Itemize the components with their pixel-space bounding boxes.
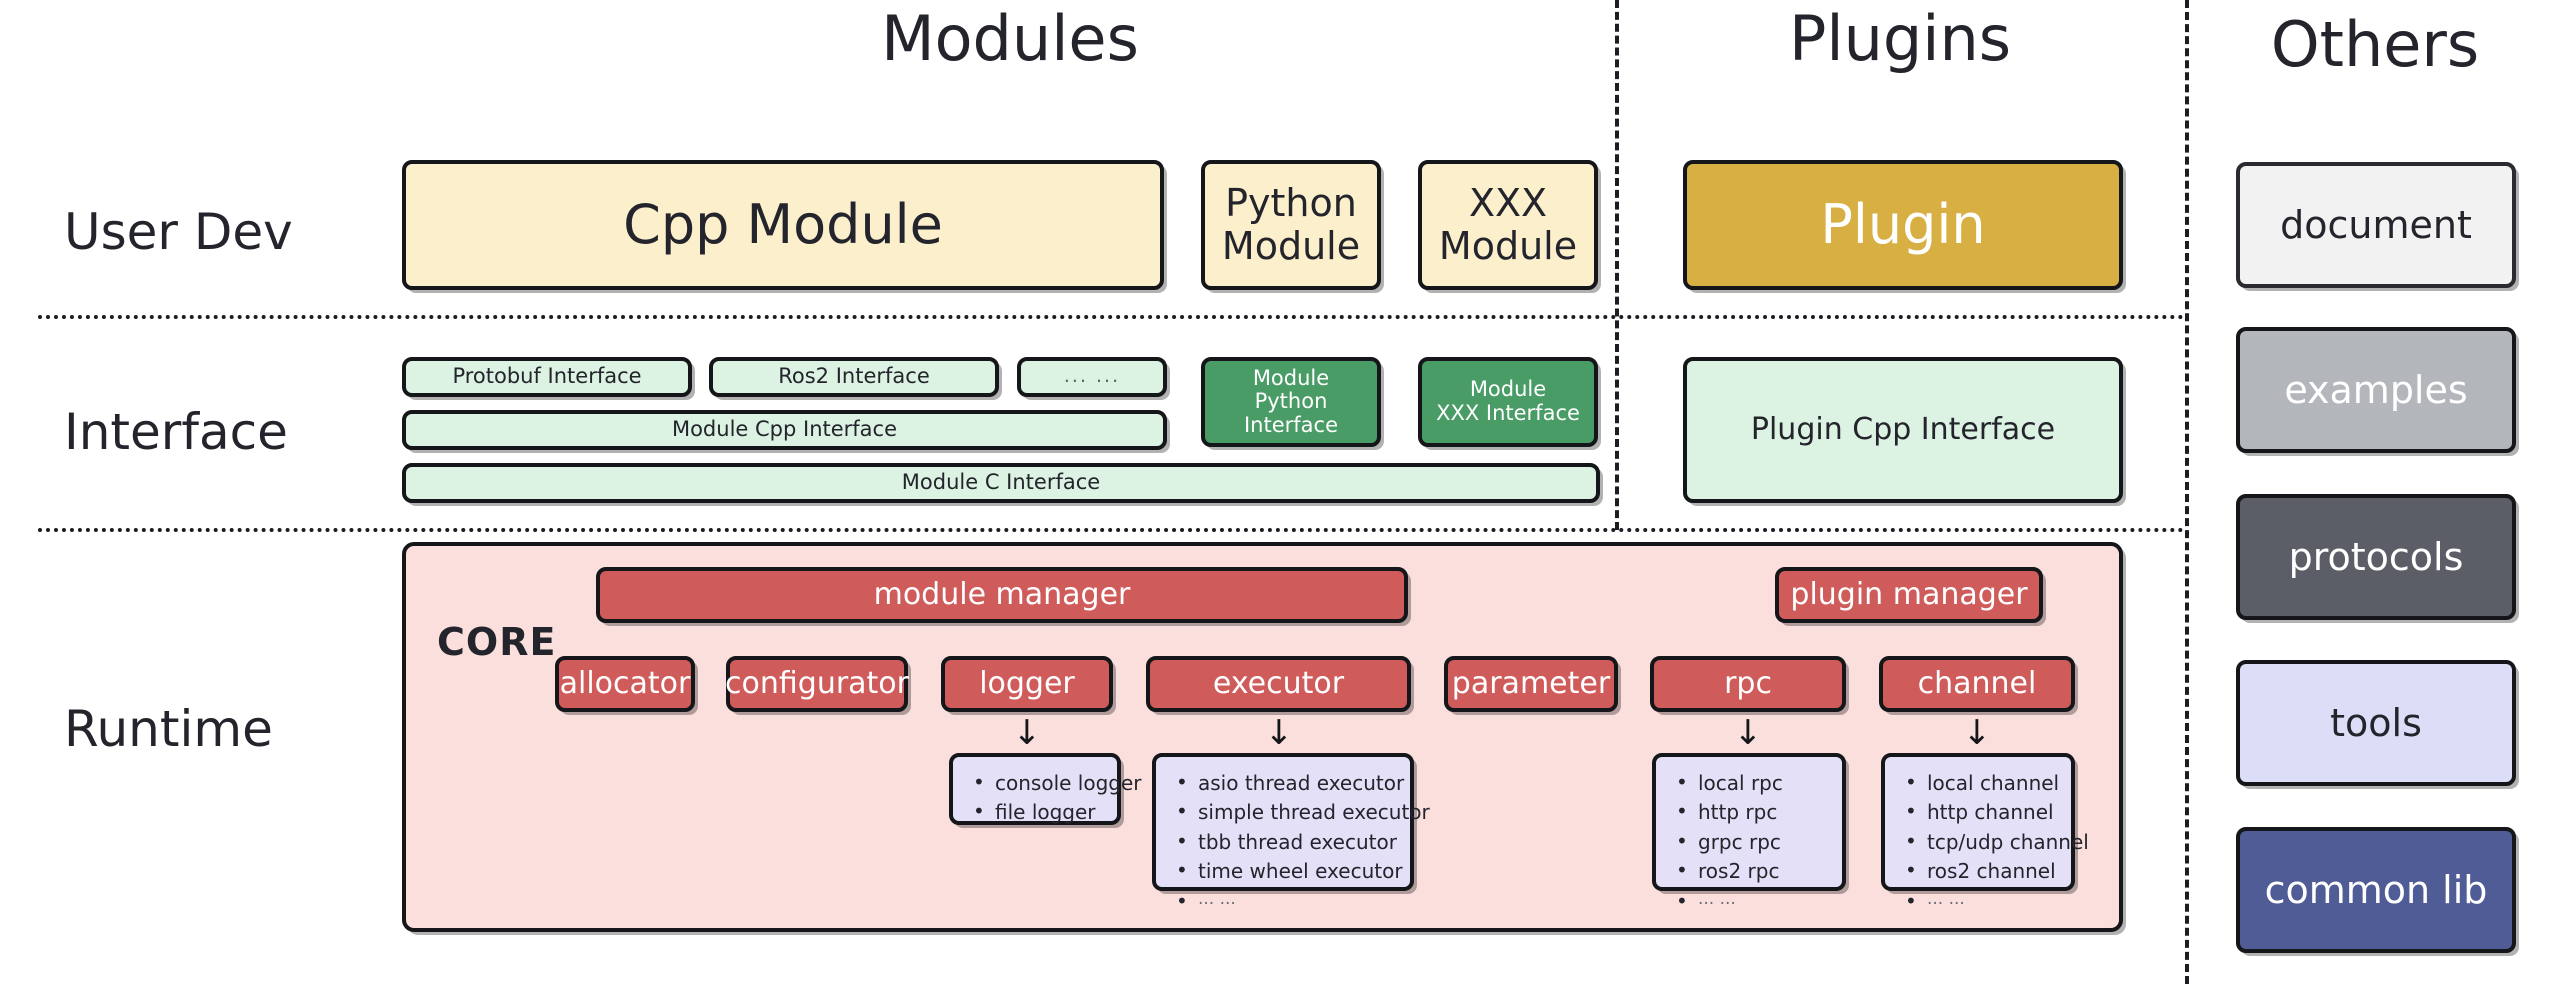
list-item: file logger [969,798,1103,827]
node-plugin-manager-label: plugin manager [1790,578,2027,612]
node-logger[interactable]: logger [941,656,1113,712]
node-xxx-module-label-line1: XXX [1469,182,1547,225]
vertical-separator-modules-plugins [1615,0,1619,530]
node-module-xxx-interface[interactable]: Module XXX Interface [1418,357,1598,447]
list-item: local channel [1901,769,2057,798]
column-header-others: Others [2205,14,2545,76]
node-module-xxx-interface-label-line2: XXX Interface [1436,402,1580,426]
node-module-manager[interactable]: module manager [596,567,1408,623]
node-others-common-lib[interactable]: common lib [2236,827,2516,953]
node-configurator[interactable]: configurator [726,656,908,712]
row-label-interface: Interface [64,403,288,461]
node-python-module-label-line2: Module [1222,225,1360,268]
node-more-interface[interactable]: ... ... [1017,357,1167,397]
node-plugin-cpp-interface[interactable]: Plugin Cpp Interface [1683,357,2123,503]
arrow-channel-to-list-icon: ↓ [1957,716,1997,750]
node-others-common-lib-label: common lib [2265,869,2488,912]
node-python-module-label-line1: Python [1225,182,1357,225]
node-configurator-label: configurator [725,667,909,701]
node-module-python-interface-label-line2: Python Interface [1205,390,1377,437]
rpc-items-list: local rpc http rpc grpc rpc ros2 rpc ...… [1672,769,1828,912]
node-module-cpp-interface[interactable]: Module Cpp Interface [402,410,1167,450]
node-cpp-module-label: Cpp Module [623,195,943,255]
node-channel[interactable]: channel [1879,656,2075,712]
column-header-modules: Modules [700,8,1320,70]
list-item: ... ... [1672,887,1828,912]
arrow-logger-to-list-icon: ↓ [1007,716,1047,750]
list-item: tbb thread executor [1172,828,1396,857]
node-ros2-interface[interactable]: Ros2 Interface [709,357,999,397]
node-rpc-label: rpc [1724,667,1772,701]
vertical-separator-plugins-others [2185,0,2189,984]
node-module-manager-label: module manager [874,578,1131,612]
node-module-cpp-interface-label: Module Cpp Interface [672,418,897,442]
node-protobuf-interface[interactable]: Protobuf Interface [402,357,692,397]
node-more-interface-label: ... ... [1064,366,1120,387]
list-item: ros2 rpc [1672,857,1828,886]
node-xxx-module[interactable]: XXX Module [1418,160,1598,290]
node-rpc[interactable]: rpc [1650,656,1846,712]
node-protobuf-interface-label: Protobuf Interface [452,365,641,389]
list-item: tcp/udp channel [1901,828,2057,857]
node-executor-label: executor [1213,667,1344,701]
node-plugin-label: Plugin [1820,195,1985,255]
row-label-runtime: Runtime [64,700,273,758]
list-logger-implementations: console logger file logger [949,753,1121,825]
list-rpc-implementations: local rpc http rpc grpc rpc ros2 rpc ...… [1652,753,1846,891]
list-item: http rpc [1672,798,1828,827]
logger-items-list: console logger file logger [969,769,1103,828]
executor-items-list: asio thread executor simple thread execu… [1172,769,1396,912]
node-others-protocols-label: protocols [2289,536,2464,579]
node-others-examples[interactable]: examples [2236,327,2516,453]
list-item: ... ... [1172,887,1396,912]
channel-items-list: local channel http channel tcp/udp chann… [1901,769,2057,912]
node-others-examples-label: examples [2284,369,2467,412]
list-channel-implementations: local channel http channel tcp/udp chann… [1881,753,2075,891]
list-executor-implementations: asio thread executor simple thread execu… [1152,753,1414,891]
node-plugin-cpp-interface-label: Plugin Cpp Interface [1751,413,2055,447]
node-logger-label: logger [979,667,1075,701]
horizontal-separator-userdev-interface [38,315,2185,319]
row-label-user-dev: User Dev [64,203,293,261]
node-parameter-label: parameter [1452,667,1610,701]
node-others-tools-label: tools [2330,702,2422,745]
list-item: asio thread executor [1172,769,1396,798]
node-module-python-interface[interactable]: Module Python Interface [1201,357,1381,447]
node-module-xxx-interface-label-line1: Module [1470,378,1546,402]
node-module-python-interface-label-line1: Module [1253,367,1329,391]
node-others-document-label: document [2280,204,2472,247]
node-module-c-interface-label: Module C Interface [902,471,1100,495]
arrow-executor-to-list-icon: ↓ [1259,716,1299,750]
node-module-c-interface[interactable]: Module C Interface [402,463,1600,503]
node-parameter[interactable]: parameter [1444,656,1618,712]
list-item: http channel [1901,798,2057,827]
node-others-tools[interactable]: tools [2236,660,2516,786]
node-allocator[interactable]: allocator [555,656,695,712]
list-item: ... ... [1901,887,2057,912]
node-cpp-module[interactable]: Cpp Module [402,160,1164,290]
list-item: console logger [969,769,1103,798]
horizontal-separator-interface-runtime [38,528,2185,532]
node-channel-label: channel [1918,667,2037,701]
column-header-plugins: Plugins [1640,8,2160,70]
list-item: simple thread executor [1172,798,1396,827]
node-xxx-module-label-line2: Module [1439,225,1577,268]
architecture-diagram: Modules Plugins Others User Dev Interfac… [0,0,2560,984]
node-others-document[interactable]: document [2236,162,2516,288]
list-item: ros2 channel [1901,857,2057,886]
node-executor[interactable]: executor [1146,656,1411,712]
core-label: CORE [437,620,556,664]
list-item: grpc rpc [1672,828,1828,857]
node-others-protocols[interactable]: protocols [2236,494,2516,620]
list-item: time wheel executor [1172,857,1396,886]
node-ros2-interface-label: Ros2 Interface [778,365,930,389]
node-plugin[interactable]: Plugin [1683,160,2123,290]
node-plugin-manager[interactable]: plugin manager [1775,567,2043,623]
node-python-module[interactable]: Python Module [1201,160,1381,290]
node-allocator-label: allocator [560,667,691,701]
arrow-rpc-to-list-icon: ↓ [1728,716,1768,750]
list-item: local rpc [1672,769,1828,798]
